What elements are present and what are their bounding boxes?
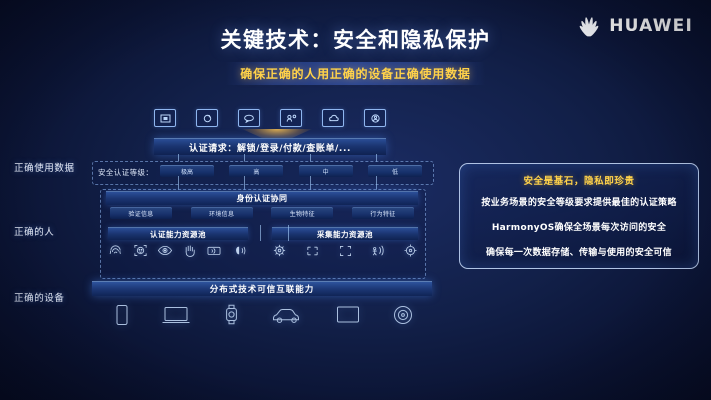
panel-line-1: 按业务场景的安全等级要求提供最佳的认证策略: [470, 195, 688, 208]
identity-auth-band: 身份认证协同: [106, 191, 418, 205]
laptop-icon[interactable]: [161, 305, 191, 325]
unlock-screen-icon[interactable]: [154, 109, 176, 127]
gps-location-icon[interactable]: [403, 243, 418, 258]
connector-tick: [260, 225, 261, 241]
chat-bubble-icon[interactable]: [238, 109, 260, 127]
top-scenario-icons: [154, 109, 386, 127]
auth-capability-pool-title: 认证能力资源池: [108, 227, 248, 240]
security-level-label: 安全认证等级：: [98, 167, 153, 178]
factor-chip-verification-info[interactable]: 验证信息: [110, 207, 172, 219]
subtitle-wrapper: 确保正确的人用正确的设备正确使用数据: [0, 62, 711, 85]
identity-factor-chips: 验证信息 环境信息 生物特征 行为特征: [110, 207, 414, 219]
connector-tick: [376, 176, 377, 190]
distributed-trust-band: 分布式技术可信互联能力: [92, 281, 432, 296]
palm-print-icon[interactable]: [183, 243, 197, 258]
axis-label-device: 正确的设备: [14, 290, 65, 304]
account-settings-icon[interactable]: [280, 109, 302, 127]
collect-capability-icons: [272, 243, 418, 258]
factor-chip-behavior[interactable]: 行为特征: [352, 207, 414, 219]
panel-line-2: HarmonyOS确保全场景每次访问的安全: [470, 220, 688, 233]
axis-label-data: 正确使用数据: [14, 160, 75, 174]
device-icons-row: [114, 303, 414, 326]
nfc-card-icon[interactable]: [206, 243, 222, 258]
collect-capability-pool-title: 采集能力资源池: [272, 227, 418, 240]
touch-sensor-icon[interactable]: [305, 244, 320, 258]
smart-speaker-icon[interactable]: [392, 304, 414, 326]
slide-canvas: HUAWEI 关键技术：安全和隐私保护 确保正确的人用正确的设备正确使用数据 正…: [0, 0, 711, 400]
smartwatch-icon[interactable]: [223, 303, 240, 326]
level-chip-medium[interactable]: 中: [299, 165, 353, 177]
car-icon[interactable]: [271, 305, 303, 325]
user-circle-icon[interactable]: [364, 109, 386, 127]
panel-heading: 安全是基石，隐私即珍贵: [460, 173, 698, 187]
auth-capability-icons: [108, 243, 248, 258]
cloud-icon[interactable]: [322, 109, 344, 127]
page-subtitle: 确保正确的人用正确的设备正确使用数据: [226, 62, 484, 85]
voiceprint-icon[interactable]: [232, 243, 248, 258]
axis-label-person: 正确的人: [14, 224, 54, 238]
refresh-shield-icon[interactable]: [196, 109, 218, 127]
fingerprint-icon[interactable]: [108, 243, 123, 258]
architecture-diagram: 认证请求：解锁/登录/付款/查账单/... 安全认证等级： 极高 高 中 低 身…: [92, 105, 432, 345]
key-messages-panel: 安全是基石，隐私即珍贵 按业务场景的安全等级要求提供最佳的认证策略 Harmon…: [459, 163, 699, 269]
factor-chip-biometric[interactable]: 生物特征: [271, 207, 333, 219]
smartphone-icon[interactable]: [114, 304, 130, 326]
motion-sensor-icon[interactable]: [370, 243, 385, 258]
connector-tick: [178, 176, 179, 190]
screen-capture-icon[interactable]: [338, 244, 353, 258]
page-title: 关键技术：安全和隐私保护: [0, 24, 711, 54]
level-chip-high[interactable]: 高: [229, 165, 283, 177]
panel-line-3: 确保每一次数据存储、传输与使用的安全可信: [470, 245, 688, 258]
level-chip-very-high[interactable]: 极高: [160, 165, 214, 177]
tablet-icon[interactable]: [335, 305, 361, 325]
security-level-chips: 极高 高 中 低: [160, 165, 422, 177]
connector-tick: [310, 176, 311, 190]
iris-scan-icon[interactable]: [157, 243, 173, 258]
auth-request-bar[interactable]: 认证请求：解锁/登录/付款/查账单/...: [154, 138, 386, 155]
connector-tick: [244, 176, 245, 190]
camera-sensor-icon[interactable]: [272, 243, 287, 258]
factor-chip-environment-info[interactable]: 环境信息: [191, 207, 253, 219]
connector-tick: [288, 225, 289, 241]
face-recognition-icon[interactable]: [133, 243, 148, 258]
